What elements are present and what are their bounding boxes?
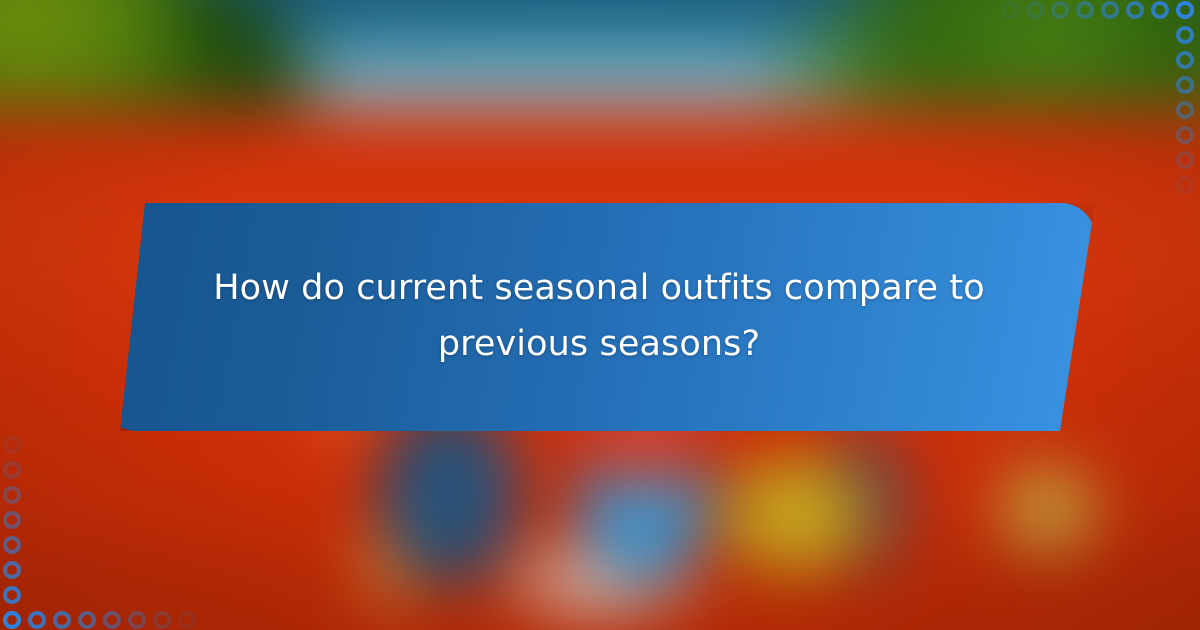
decor-dot [3,611,21,629]
decor-dot [1176,51,1194,69]
decor-dot [1176,101,1194,119]
decor-dot [3,536,21,554]
decor-dot [1051,1,1069,19]
decor-dot [1151,1,1169,19]
decor-dot [153,611,171,629]
decor-dot [3,436,21,454]
decor-dot [3,511,21,529]
decor-dot [1026,1,1044,19]
decor-dot [1126,1,1144,19]
decor-dot [78,611,96,629]
decor-dot [178,611,196,629]
decor-dot [53,611,71,629]
question-text: How do current seasonal outfits compare … [209,260,989,374]
decor-dot [103,611,121,629]
decor-dot [128,611,146,629]
question-card: How do current seasonal outfits compare … [103,203,1095,431]
decor-dot [1176,1,1194,19]
decor-dot [1076,1,1094,19]
decor-dot [1176,126,1194,144]
decor-dot [1001,1,1019,19]
decor-dot [1176,151,1194,169]
decor-dot [1176,26,1194,44]
screenshot-stage: How do current seasonal outfits compare … [0,0,1200,630]
decor-dot [1176,176,1194,194]
decor-dot [3,561,21,579]
decor-dot [1176,76,1194,94]
decor-dot [3,486,21,504]
decor-dot [28,611,46,629]
decor-dot [1101,1,1119,19]
decor-dot [3,461,21,479]
decor-dot [3,586,21,604]
